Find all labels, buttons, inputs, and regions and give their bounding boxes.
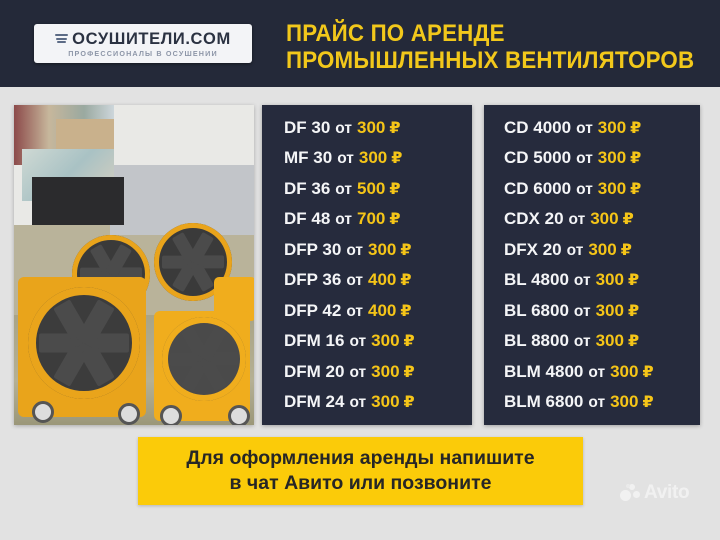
price-row-model: DF 30 (284, 113, 330, 143)
ruble-currency-icon: ₽ (400, 236, 411, 266)
ruble-currency-icon: ₽ (621, 236, 632, 266)
price-row: BL 6800от300₽ (484, 296, 700, 327)
page-title: ПРАЙС ПО АРЕНДЕ ПРОМЫШЛЕННЫХ ВЕНТИЛЯТОРО… (286, 20, 677, 74)
price-row-from-label: от (588, 358, 605, 388)
price-row: DFP 30от300₽ (262, 235, 472, 266)
ruble-currency-icon: ₽ (630, 114, 641, 144)
ruble-currency-icon: ₽ (630, 175, 641, 205)
price-row-model: CD 4000 (504, 113, 571, 143)
price-row: MF 30от300₽ (262, 143, 472, 174)
price-row-amount: 300 (598, 113, 626, 143)
price-row-from-label: от (335, 175, 352, 205)
price-row-from-label: от (349, 358, 366, 388)
price-row-amount: 400 (368, 265, 396, 295)
avito-circles-icon (620, 484, 640, 502)
product-photo (14, 105, 254, 425)
price-row: CD 6000от300₽ (484, 174, 700, 205)
ruble-currency-icon: ₽ (400, 266, 411, 296)
price-row-from-label: от (588, 388, 605, 418)
photo-large-fan-disc (28, 287, 140, 399)
price-row-model: DFM 16 (284, 326, 344, 356)
ruble-currency-icon: ₽ (404, 327, 415, 357)
price-row: CDX 20от300₽ (484, 204, 700, 235)
price-row-from-label: от (569, 205, 586, 235)
price-row: DFM 20от300₽ (262, 357, 472, 388)
price-row: DFP 36от400₽ (262, 265, 472, 296)
price-row-model: MF 30 (284, 143, 332, 173)
price-row-from-label: от (346, 297, 363, 327)
price-row-amount: 300 (590, 204, 618, 234)
price-row-amount: 300 (598, 174, 626, 204)
price-row-model: DF 36 (284, 174, 330, 204)
price-row-from-label: от (576, 175, 593, 205)
ruble-currency-icon: ₽ (642, 358, 653, 388)
price-row-model: BLM 6800 (504, 387, 583, 417)
price-row-from-label: от (574, 266, 591, 296)
avito-watermark: Avito (620, 483, 689, 502)
price-row-from-label: от (574, 297, 591, 327)
price-row: DFM 24от300₽ (262, 387, 472, 418)
ruble-currency-icon: ₽ (389, 205, 400, 235)
price-row: DF 48от700₽ (262, 204, 472, 235)
photo-carton-box (56, 119, 114, 153)
cta-line-1: Для оформления аренды напишите (186, 446, 534, 471)
price-row-amount: 300 (371, 326, 399, 356)
signal-bars-icon (55, 34, 68, 43)
price-row: DF 30от300₽ (262, 113, 472, 144)
price-row-model: DFX 20 (504, 235, 562, 265)
price-row-amount: 300 (598, 143, 626, 173)
price-row-amount: 400 (368, 296, 396, 326)
price-list-left: DF 30от300₽MF 30от300₽DF 36от500₽DF 48от… (262, 113, 472, 418)
ruble-currency-icon: ₽ (389, 114, 400, 144)
price-row-from-label: от (576, 114, 593, 144)
price-row-model: DF 48 (284, 204, 330, 234)
price-row: BL 8800от300₽ (484, 326, 700, 357)
header-bar: ОСУШИТЕЛИ.COM ПРОФЕССИОНАЛЫ В ОСУШЕНИИ П… (0, 0, 720, 87)
photo-wheel-4 (228, 405, 250, 425)
ruble-currency-icon: ₽ (400, 297, 411, 327)
price-row-model: CD 6000 (504, 174, 571, 204)
price-row-model: CD 5000 (504, 143, 571, 173)
cta-banner[interactable]: Для оформления аренды напишите в чат Ави… (138, 437, 583, 505)
ruble-currency-icon: ₽ (630, 144, 641, 174)
price-row-from-label: от (567, 236, 584, 266)
brand-logo-subtitle: ПРОФЕССИОНАЛЫ В ОСУШЕНИИ (68, 50, 218, 57)
price-row-model: BL 4800 (504, 265, 569, 295)
ruble-currency-icon: ₽ (628, 327, 639, 357)
price-row-amount: 300 (359, 143, 387, 173)
page-title-line-1: ПРАЙС ПО АРЕНДЕ (286, 20, 677, 47)
photo-wheel-3 (160, 405, 182, 425)
price-row-model: BL 8800 (504, 326, 569, 356)
price-row-from-label: от (346, 236, 363, 266)
brand-logo-text: ОСУШИТЕЛИ.COM (72, 31, 231, 48)
cta-line-2: в чат Авито или позвоните (230, 471, 492, 496)
ruble-currency-icon: ₽ (404, 388, 415, 418)
price-panel-left: DF 30от300₽MF 30от300₽DF 36от500₽DF 48от… (262, 105, 472, 425)
price-row-amount: 300 (588, 235, 616, 265)
brand-logo[interactable]: ОСУШИТЕЛИ.COM ПРОФЕССИОНАЛЫ В ОСУШЕНИИ (34, 24, 252, 63)
ruble-currency-icon: ₽ (404, 358, 415, 388)
price-row-amount: 300 (596, 296, 624, 326)
price-row-amount: 300 (371, 387, 399, 417)
price-row-amount: 300 (610, 387, 638, 417)
ruble-currency-icon: ₽ (623, 205, 634, 235)
price-row-from-label: от (349, 327, 366, 357)
price-row: BLM 6800от300₽ (484, 387, 700, 418)
ad-canvas: ОСУШИТЕЛИ.COM ПРОФЕССИОНАЛЫ В ОСУШЕНИИ П… (0, 0, 720, 540)
price-row-amount: 300 (357, 113, 385, 143)
price-row-model: DFM 20 (284, 357, 344, 387)
price-row-amount: 500 (357, 174, 385, 204)
price-row-amount: 300 (368, 235, 396, 265)
price-row-from-label: от (349, 388, 366, 418)
price-row-model: DFP 30 (284, 235, 341, 265)
price-row-from-label: от (335, 114, 352, 144)
price-row: CD 5000от300₽ (484, 143, 700, 174)
price-row-amount: 300 (371, 357, 399, 387)
price-row: DFM 16от300₽ (262, 326, 472, 357)
price-list-right: CD 4000от300₽CD 5000от300₽CD 6000от300₽C… (484, 113, 700, 418)
price-row-amount: 700 (357, 204, 385, 234)
ruble-currency-icon: ₽ (391, 144, 402, 174)
price-row: BLM 4800от300₽ (484, 357, 700, 388)
photo-dark-cabinet (32, 177, 124, 225)
ruble-currency-icon: ₽ (628, 297, 639, 327)
price-row-from-label: от (335, 205, 352, 235)
price-row-from-label: от (576, 144, 593, 174)
price-row: CD 4000от300₽ (484, 113, 700, 144)
price-row-amount: 300 (596, 265, 624, 295)
price-row: DFP 42от400₽ (262, 296, 472, 327)
price-row-from-label: от (346, 266, 363, 296)
price-panel-right: CD 4000от300₽CD 5000от300₽CD 6000от300₽C… (484, 105, 700, 425)
price-row: DFX 20от300₽ (484, 235, 700, 266)
price-row: DF 36от500₽ (262, 174, 472, 205)
price-row-amount: 300 (610, 357, 638, 387)
price-row-from-label: от (337, 144, 354, 174)
price-row-model: DFP 36 (284, 265, 341, 295)
price-row-model: DFP 42 (284, 296, 341, 326)
photo-portable-fan-disc (162, 317, 246, 401)
price-row-model: BLM 4800 (504, 357, 583, 387)
price-row-model: BL 6800 (504, 296, 569, 326)
price-row: BL 4800от300₽ (484, 265, 700, 296)
price-row-from-label: от (574, 327, 591, 357)
avito-watermark-text: Avito (644, 483, 689, 502)
price-row-model: DFM 24 (284, 387, 344, 417)
photo-wheel-1 (32, 401, 54, 423)
ruble-currency-icon: ₽ (628, 266, 639, 296)
price-row-amount: 300 (596, 326, 624, 356)
page-title-line-2: ПРОМЫШЛЕННЫХ ВЕНТИЛЯТОРОВ (286, 47, 677, 74)
ruble-currency-icon: ₽ (642, 388, 653, 418)
price-row-model: CDX 20 (504, 204, 564, 234)
photo-wheel-2 (118, 403, 140, 425)
ruble-currency-icon: ₽ (389, 175, 400, 205)
